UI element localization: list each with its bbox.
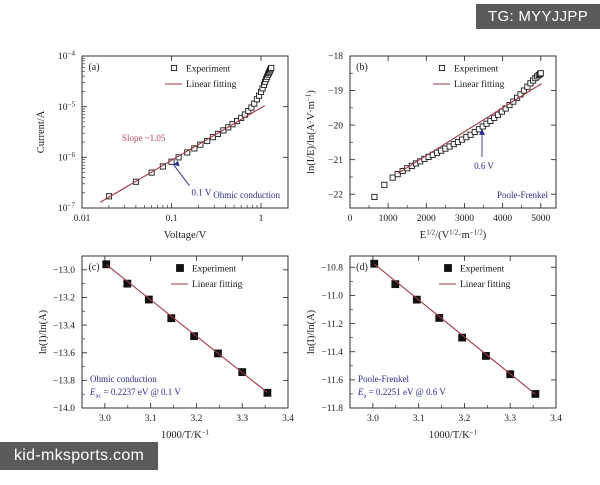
annotation-mechanism: Poole-Frenkel [497,190,548,200]
annotation-bias: 0.1 V [192,188,212,198]
data-point [382,182,387,187]
y-tick-label: 10−7 [58,202,75,215]
svg-text:−11.2: −11.2 [321,320,343,330]
data-point [390,175,395,180]
svg-text:−20: −20 [328,121,343,131]
panel-c: 3.03.13.23.33.4−13.0−13.2−13.4−13.6−13.8… [38,256,294,441]
legend-label-experiment: Experiment [454,65,499,75]
plot-frame [82,56,288,208]
legend-label-experiment: Experiment [460,265,505,275]
svg-text:3.1: 3.1 [145,414,157,424]
panel-b: 010002000300040005000−18−19−20−21−22(b)E… [305,52,557,241]
panel-label: (a) [88,62,99,73]
y-tick-label: 10−6 [58,151,75,164]
x-axis-label: 1000/T/K−1 [429,429,478,442]
y-tick-label: 10−5 [58,100,75,113]
x-axis-label: E1/2/(V1/2·m−1/2) [420,229,487,242]
plot-frame [82,256,288,408]
svg-text:−10.8: −10.8 [321,263,343,273]
annotation-mechanism: Ohmic conduction [90,374,157,384]
plot-frame [350,56,556,208]
data-point [413,296,420,303]
x-axis-label: Voltage/V [164,230,207,241]
legend-label-fitting: Linear fitting [454,79,505,90]
annotation-activation-energy: Eac = 0.2237 eV @ 0.1 V [89,387,181,400]
svg-text:3.2: 3.2 [191,414,203,424]
annotation-activation-energy: Ea = 0.2251 eV @ 0.6 V [357,387,446,400]
svg-text:3.1: 3.1 [413,414,425,424]
svg-text:−11.6: −11.6 [321,376,343,386]
svg-text:3.3: 3.3 [236,414,248,424]
annotation-slope: Slope ~1.05 [122,133,166,143]
svg-text:−13.6: −13.6 [53,349,75,359]
svg-text:−18: −18 [328,52,343,62]
data-point [372,194,377,199]
svg-text:2000: 2000 [417,214,436,224]
svg-text:−13.8: −13.8 [53,377,75,387]
svg-text:3.0: 3.0 [367,414,379,424]
legend-label-fitting: Linear fitting [460,279,511,290]
x-axis-label: 1000/T/K−1 [161,429,210,442]
y-axis-label: Current/A [36,110,47,153]
annotation-mechanism: Poole-Frenkel [358,374,409,384]
annotation-bias: 0.6 V [474,161,494,171]
y-axis-label: ln(I)/ln(A) [306,309,317,354]
svg-text:−14.0: −14.0 [53,404,75,414]
panel-label: (b) [356,62,368,73]
y-axis-label: ln(I)/ln(A) [38,309,49,354]
svg-text:0: 0 [348,214,353,224]
svg-text:3.2: 3.2 [459,414,471,424]
figure-canvas: 0.010.1110−410−510−610−7(a)ExperimentLin… [0,0,600,480]
y-tick-label: 10−4 [58,50,75,63]
annotation-mechanism: Ohmic conduction [213,190,280,200]
svg-text:−13.4: −13.4 [53,321,75,331]
svg-text:1000: 1000 [379,214,398,224]
svg-text:0.1: 0.1 [166,214,178,224]
svg-text:−11.4: −11.4 [321,348,343,358]
panel-d: 3.03.13.23.33.4−10.8−11.0−11.2−11.4−11.6… [306,256,562,441]
svg-text:5000: 5000 [531,214,550,224]
svg-text:3000: 3000 [455,214,474,224]
legend-marker-experiment [177,265,184,272]
legend-label-experiment: Experiment [186,65,231,75]
panel-label: (d) [356,262,368,273]
watermark-top-right: TG: MYYJJPP [476,4,600,29]
annotation-arrow [174,165,190,186]
svg-text:3.4: 3.4 [550,414,562,424]
svg-text:3.3: 3.3 [504,414,516,424]
svg-text:−13.2: −13.2 [53,294,75,304]
data-point [269,65,274,70]
svg-text:−11.0: −11.0 [321,292,343,302]
legend-label-fitting: Linear fitting [192,279,243,290]
panel-a: 0.010.1110−410−510−610−7(a)ExperimentLin… [36,50,288,241]
svg-text:4000: 4000 [493,214,512,224]
legend-label-fitting: Linear fitting [186,79,237,90]
fit-line [100,106,264,203]
panel-label: (c) [88,262,99,273]
svg-text:0.01: 0.01 [74,214,91,224]
legend-marker-experiment [439,65,444,70]
svg-text:3.0: 3.0 [99,414,111,424]
legend-label-experiment: Experiment [192,265,237,275]
fit-line [398,84,542,174]
svg-text:−11.8: −11.8 [321,404,343,414]
svg-text:−19: −19 [328,87,343,97]
y-axis-label: ln(I/E)/ln(A·V·m−1) [305,90,318,174]
svg-text:1: 1 [259,214,264,224]
legend-marker-experiment [445,265,452,272]
watermark-bottom-left: kid-mksports.com [0,442,158,470]
svg-text:−13.0: −13.0 [53,266,75,276]
svg-text:−21: −21 [328,156,343,166]
svg-text:−22: −22 [328,190,343,200]
legend-marker-experiment [171,65,176,70]
data-point [538,71,543,76]
multi-panel-figure: 0.010.1110−410−510−610−7(a)ExperimentLin… [0,0,600,480]
svg-text:3.4: 3.4 [282,414,294,424]
